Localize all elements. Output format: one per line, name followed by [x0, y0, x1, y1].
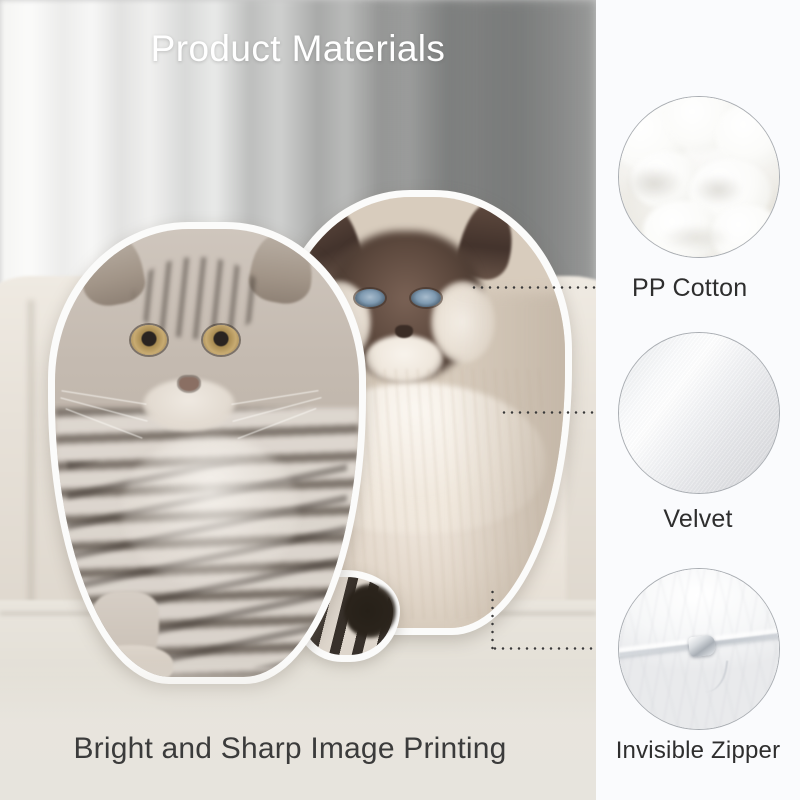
swatch-pp-cotton [618, 96, 780, 258]
materials-panel [596, 0, 800, 800]
material-label-invisible-zipper: Invisible Zipper [596, 737, 800, 765]
ragdoll-side-shading [451, 292, 565, 628]
tabby-cat-pillow [48, 222, 366, 684]
tabby-nose [179, 377, 199, 391]
ragdoll-eye-right [411, 289, 441, 307]
material-label-pp-cotton: PP Cotton [632, 274, 800, 303]
product-photo-scene: Product Materials Bright and Sharp Image… [0, 0, 596, 800]
ragdoll-nose [395, 325, 413, 338]
page-title: Product Materials [0, 28, 596, 70]
tabby-eye-right [203, 325, 239, 355]
swatch-invisible-zipper [618, 568, 780, 730]
velvet-nap-texture [619, 333, 779, 493]
printing-caption: Bright and Sharp Image Printing [0, 732, 580, 766]
material-label-velvet: Velvet [596, 505, 800, 534]
sofa-arm-seam [28, 300, 34, 630]
seat-foreground-wash [0, 660, 596, 800]
cotton-shadows [619, 97, 779, 257]
swatch-velvet [618, 332, 780, 494]
tabby-eye-left [131, 325, 167, 355]
tabby-chest-highlight [122, 435, 298, 587]
leader-line-zipper-vertical [491, 588, 494, 650]
product-materials-infographic: Product Materials Bright and Sharp Image… [0, 0, 800, 800]
pillow-printed-face [55, 229, 359, 677]
